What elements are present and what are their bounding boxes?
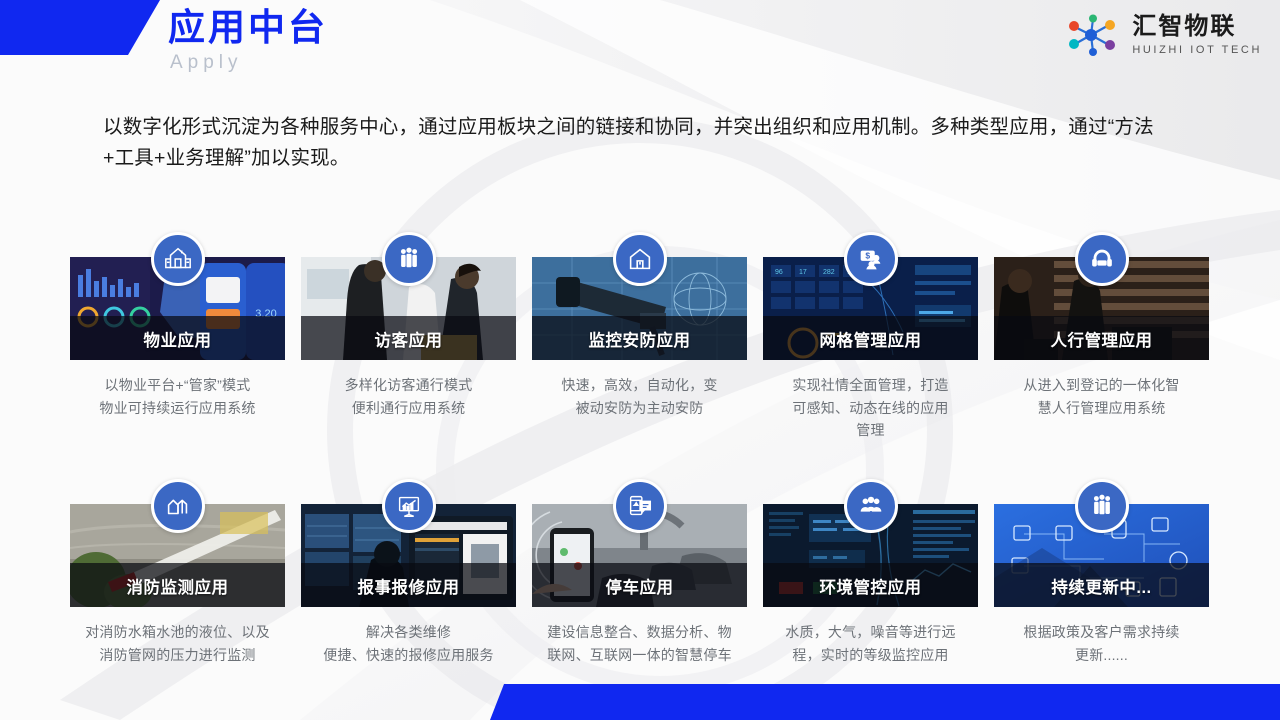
- card-caption: 实现社情全面管理，打造 可感知、动态在线的应用 管理: [763, 374, 978, 442]
- card-caption: 水质，大气，噪音等进行远 程，实时的等级监控应用: [763, 621, 978, 666]
- card-caption: 以物业平台+“管家”模式 物业可持续运行应用系统: [70, 374, 285, 419]
- phone-chat-icon: [613, 479, 667, 533]
- card-caption: 根据政策及客户需求持续 更新......: [994, 621, 1209, 666]
- headset-service-icon: [1075, 232, 1129, 286]
- people-group-icon: [382, 232, 436, 286]
- buildings-icon: [151, 479, 205, 533]
- card-fire-monitoring-app[interactable]: 消防监测应用 对消防水箱水池的液位、以及 消防管网的压力进行监测: [70, 479, 285, 666]
- card-title: 网格管理应用: [763, 327, 978, 351]
- screen-money-person-icon: $: [844, 232, 898, 286]
- community-house-icon: [151, 232, 205, 286]
- card-title: 持续更新中...: [994, 574, 1209, 598]
- card-caption: 快速，高效，自动化，变 被动安防为主动安防: [532, 374, 747, 419]
- card-caption: 建设信息整合、数据分析、物 联网、互联网一体的智慧停车: [532, 621, 747, 666]
- card-row-1: 3.20 物业应用 以物业平台+“管家”模式 物业可持续运行应用系统: [70, 232, 1212, 442]
- logo-name-cn: 汇智物联: [1132, 14, 1236, 40]
- header-accent-shape: [0, 0, 160, 55]
- card-repair-request-app[interactable]: 报事报修应用 解决各类维修 便捷、快速的报修应用服务: [301, 479, 516, 666]
- card-title: 监控安防应用: [532, 327, 747, 351]
- card-visitor-app[interactable]: 访客应用 多样化访客通行模式 便利通行应用系统: [301, 232, 516, 442]
- page-header: 应用中台 Apply 汇: [0, 0, 1280, 88]
- card-title: 访客应用: [301, 327, 516, 351]
- card-parking-app[interactable]: 停车应用 建设信息整合、数据分析、物 联网、互联网一体的智慧停车: [532, 479, 747, 666]
- svg-text:$: $: [865, 251, 870, 261]
- three-people-icon: [844, 479, 898, 533]
- svg-text:282: 282: [823, 269, 835, 276]
- card-row-2: 消防监测应用 对消防水箱水池的液位、以及 消防管网的压力进行监测: [70, 479, 1212, 666]
- card-title: 报事报修应用: [301, 574, 516, 598]
- card-title: 停车应用: [532, 574, 747, 598]
- chart-board-icon: [382, 479, 436, 533]
- card-property-app[interactable]: 3.20 物业应用 以物业平台+“管家”模式 物业可持续运行应用系统: [70, 232, 285, 442]
- brand-logo: 汇智物联 HUIZHI IOT TECH: [1063, 14, 1262, 56]
- card-caption: 解决各类维修 便捷、快速的报修应用服务: [301, 621, 516, 666]
- page-title: 应用中台: [168, 8, 328, 49]
- intro-paragraph: 以数字化形式沉淀为各种服务中心，通过应用板块之间的链接和协同，并突出组织和应用机…: [103, 112, 1178, 174]
- application-card-grid: 3.20 物业应用 以物业平台+“管家”模式 物业可持续运行应用系统: [70, 232, 1212, 666]
- card-caption: 对消防水箱水池的液位、以及 消防管网的压力进行监测: [70, 621, 285, 666]
- card-caption: 多样化访客通行模式 便利通行应用系统: [301, 374, 516, 419]
- card-title: 环境管控应用: [763, 574, 978, 598]
- card-caption: 从进入到登记的一体化智 慧人行管理应用系统: [994, 374, 1209, 419]
- card-coming-soon[interactable]: 持续更新中... 根据政策及客户需求持续 更新......: [994, 479, 1209, 666]
- home-shield-icon: [613, 232, 667, 286]
- card-title: 人行管理应用: [994, 327, 1209, 351]
- card-title: 物业应用: [70, 327, 285, 351]
- svg-text:96: 96: [775, 269, 783, 276]
- people-group-icon: [1075, 479, 1129, 533]
- footer-accent-bar: [490, 684, 1280, 720]
- card-pedestrian-management-app[interactable]: 人行管理应用 从进入到登记的一体化智 慧人行管理应用系统: [994, 232, 1209, 442]
- logo-name-en: HUIZHI IOT TECH: [1132, 44, 1262, 56]
- card-title: 消防监测应用: [70, 574, 285, 598]
- card-environment-control-app[interactable]: 环境管控应用 水质，大气，噪音等进行远 程，实时的等级监控应用: [763, 479, 978, 666]
- molecule-network-icon: [1063, 14, 1123, 56]
- card-grid-management-app[interactable]: 9617 28218: [763, 232, 978, 442]
- page-subtitle: Apply: [170, 52, 243, 74]
- card-surveillance-app[interactable]: 监控安防应用 快速，高效，自动化，变 被动安防为主动安防: [532, 232, 747, 442]
- svg-text:17: 17: [799, 269, 807, 276]
